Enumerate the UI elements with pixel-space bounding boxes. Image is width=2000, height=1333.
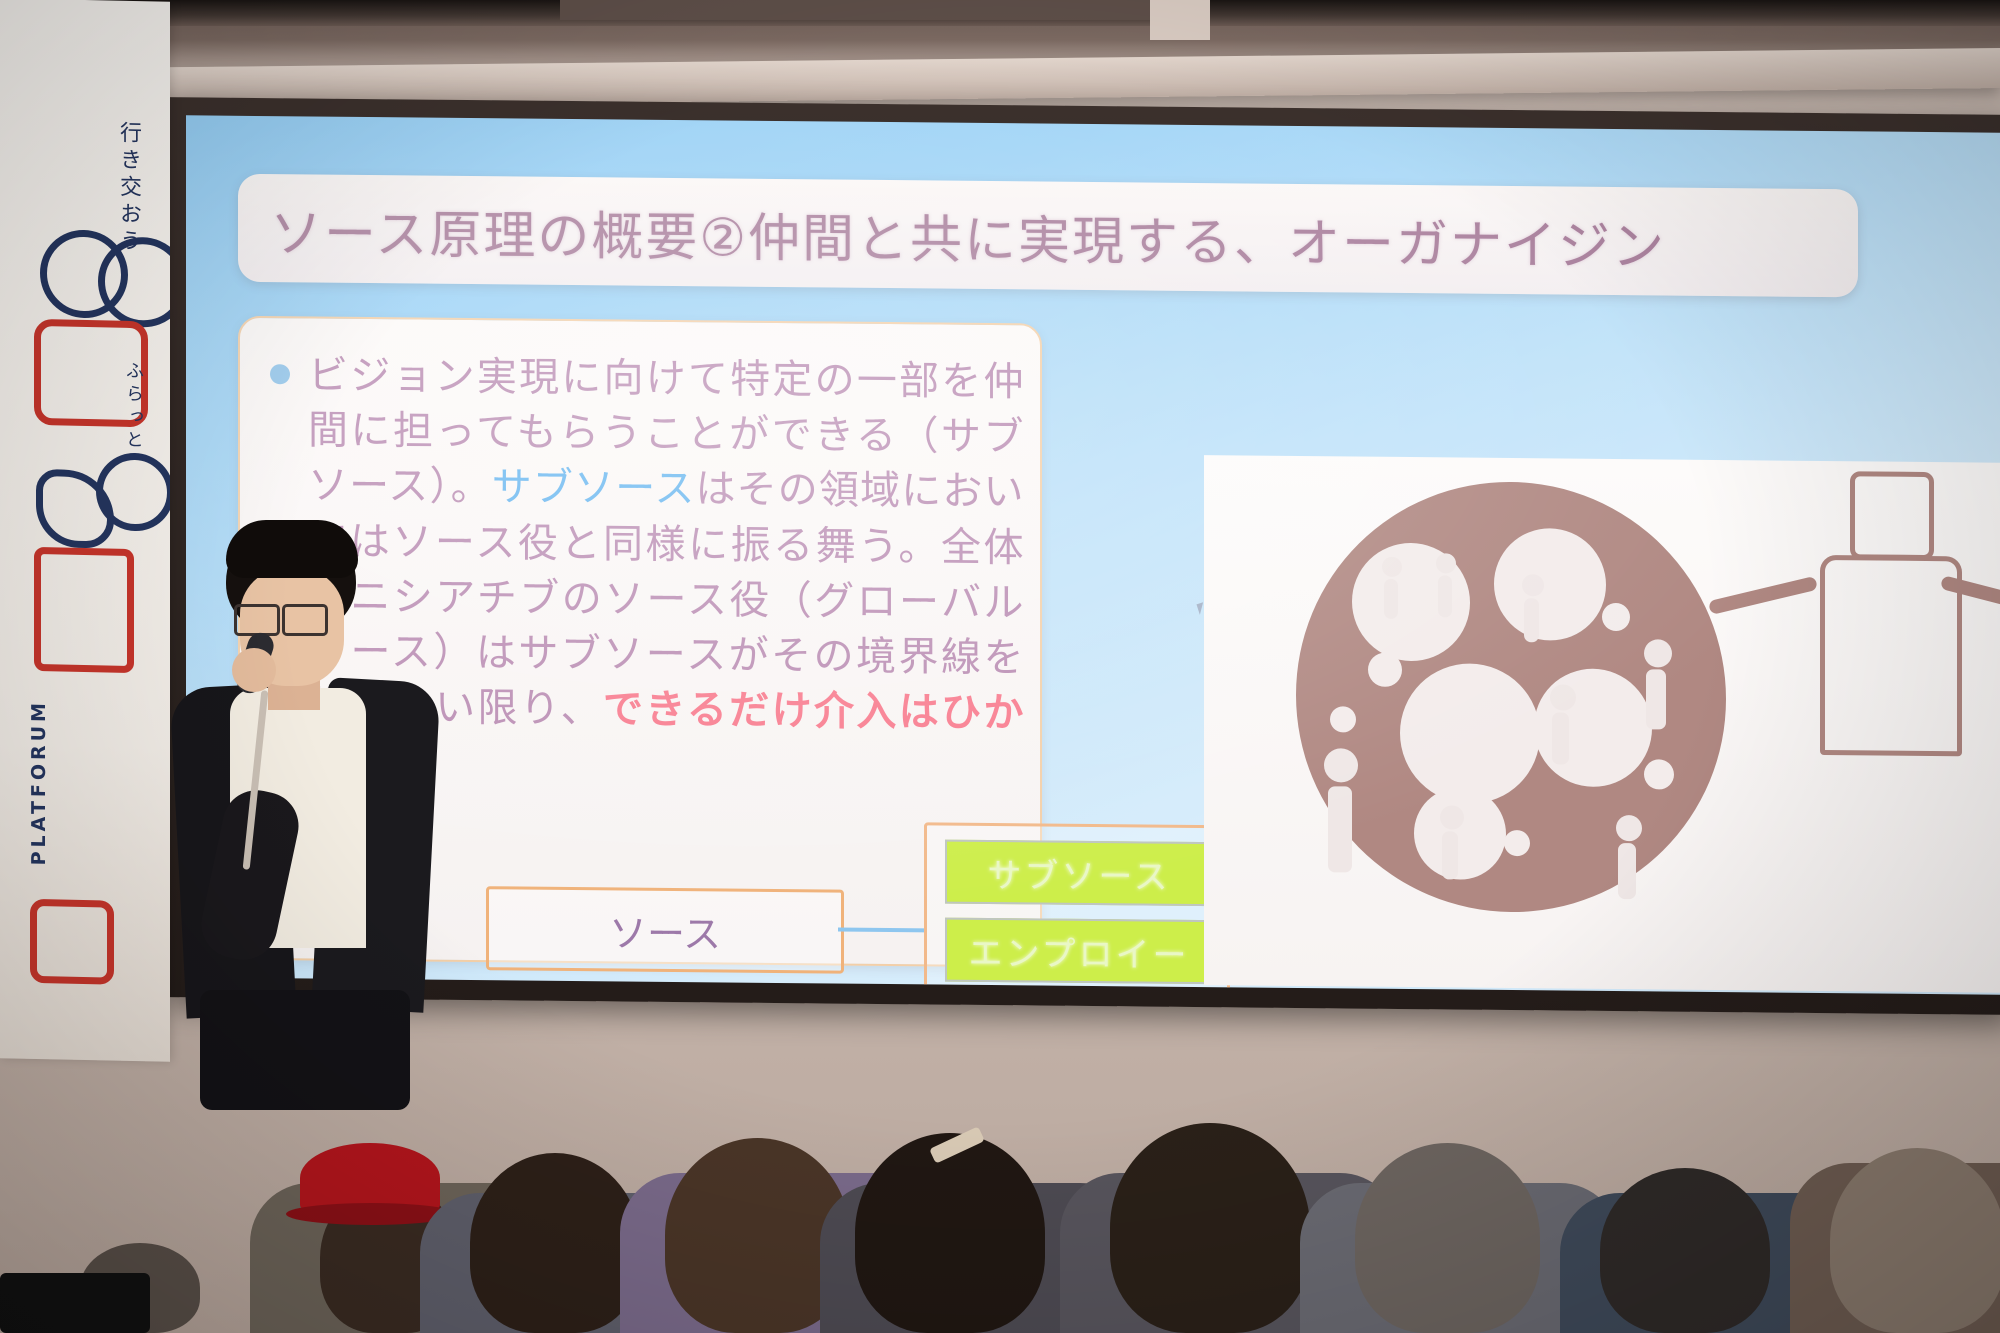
glasses-right-lens	[282, 604, 328, 636]
audience-head-4	[855, 1133, 1045, 1333]
figure-body-7	[1646, 669, 1666, 729]
figure-head-2	[1436, 553, 1456, 573]
speaker-figure	[170, 520, 450, 1080]
inner-circle-2	[1494, 528, 1606, 641]
figure-body-3	[1524, 598, 1539, 642]
figure-head-8	[1616, 815, 1642, 841]
small-dot-1	[1368, 653, 1402, 687]
source-box: ソース	[486, 886, 844, 973]
standing-person-outline	[1764, 470, 1994, 802]
banner-vertical-text-2: ふらっと	[120, 361, 146, 454]
ceiling-light	[1150, 0, 1210, 40]
figure-head-4	[1324, 748, 1358, 782]
figure-head-3	[1522, 574, 1544, 596]
circles-illustration	[1204, 455, 2000, 993]
small-dot-4	[1644, 759, 1674, 789]
inner-circle-5	[1414, 787, 1506, 880]
presentation-slide: ソース原理の概要②仲間と共に実現する、オーガナイジン ビジョン実現に向けて特定の…	[186, 115, 2000, 994]
small-dot-2	[1330, 706, 1356, 732]
person-arm-left	[1708, 576, 1818, 615]
hair-fringe	[226, 520, 358, 578]
audience-head-7	[1600, 1168, 1770, 1333]
handshake-icon	[30, 899, 114, 985]
projection-screen: ソース原理の概要②仲間と共に実現する、オーガナイジン ビジョン実現に向けて特定の…	[186, 115, 2000, 994]
small-dot-3	[1602, 603, 1630, 631]
bullet-dot-icon	[270, 364, 290, 384]
screenshot-stage: ソース原理の概要②仲間と共に実現する、オーガナイジン ビジョン実現に向けて特定の…	[0, 0, 2000, 1333]
audience-head-5	[1110, 1123, 1310, 1333]
small-dot-5	[1504, 830, 1530, 856]
relationship-diagram: ソース サブソース エンプロイー ヘルパー	[486, 808, 1046, 995]
connector-line	[838, 928, 926, 933]
figure-head-1	[1382, 557, 1402, 577]
figure-body-4	[1328, 786, 1352, 872]
slide-title-card: ソース原理の概要②仲間と共に実現する、オーガナイジン	[238, 174, 1858, 298]
chip-subsource: サブソース	[945, 840, 1213, 907]
banner-logo: PLATFORUM	[28, 699, 50, 866]
audience-head-2	[470, 1153, 640, 1333]
ceiling-panel	[560, 0, 1160, 20]
figure-body-5	[1442, 831, 1458, 879]
figure-head-5	[1440, 805, 1464, 829]
person-head-icon	[1850, 471, 1934, 560]
group-box: サブソース エンプロイー ヘルパー	[924, 822, 1230, 994]
figure-body-2	[1438, 575, 1452, 617]
document-icon	[34, 547, 134, 673]
audience-head-6	[1355, 1143, 1540, 1333]
inner-circle-3	[1400, 663, 1540, 804]
figure-body-6	[1552, 712, 1569, 764]
audience-row	[0, 1003, 2000, 1333]
figure-head-6	[1550, 684, 1576, 710]
page-title: ソース原理の概要②仲間と共に実現する、オーガナイジン	[238, 190, 1666, 279]
chip-employee: エンプロイー	[945, 918, 1213, 985]
figure-body-8	[1618, 843, 1636, 899]
hand-holding-mic	[232, 648, 276, 692]
figure-head-7	[1644, 639, 1672, 667]
stage-monitor	[0, 1273, 150, 1333]
paragraph-segment-blue: サブソース	[492, 465, 696, 513]
venue-banner: 行き交おう ふらっと PLATFORUM	[0, 0, 170, 1062]
glasses-left-lens	[234, 604, 280, 636]
banner-vertical-text-1: 行き交おう	[112, 121, 144, 257]
audience-head-8	[1830, 1148, 2000, 1333]
figure-body-1	[1384, 579, 1398, 619]
